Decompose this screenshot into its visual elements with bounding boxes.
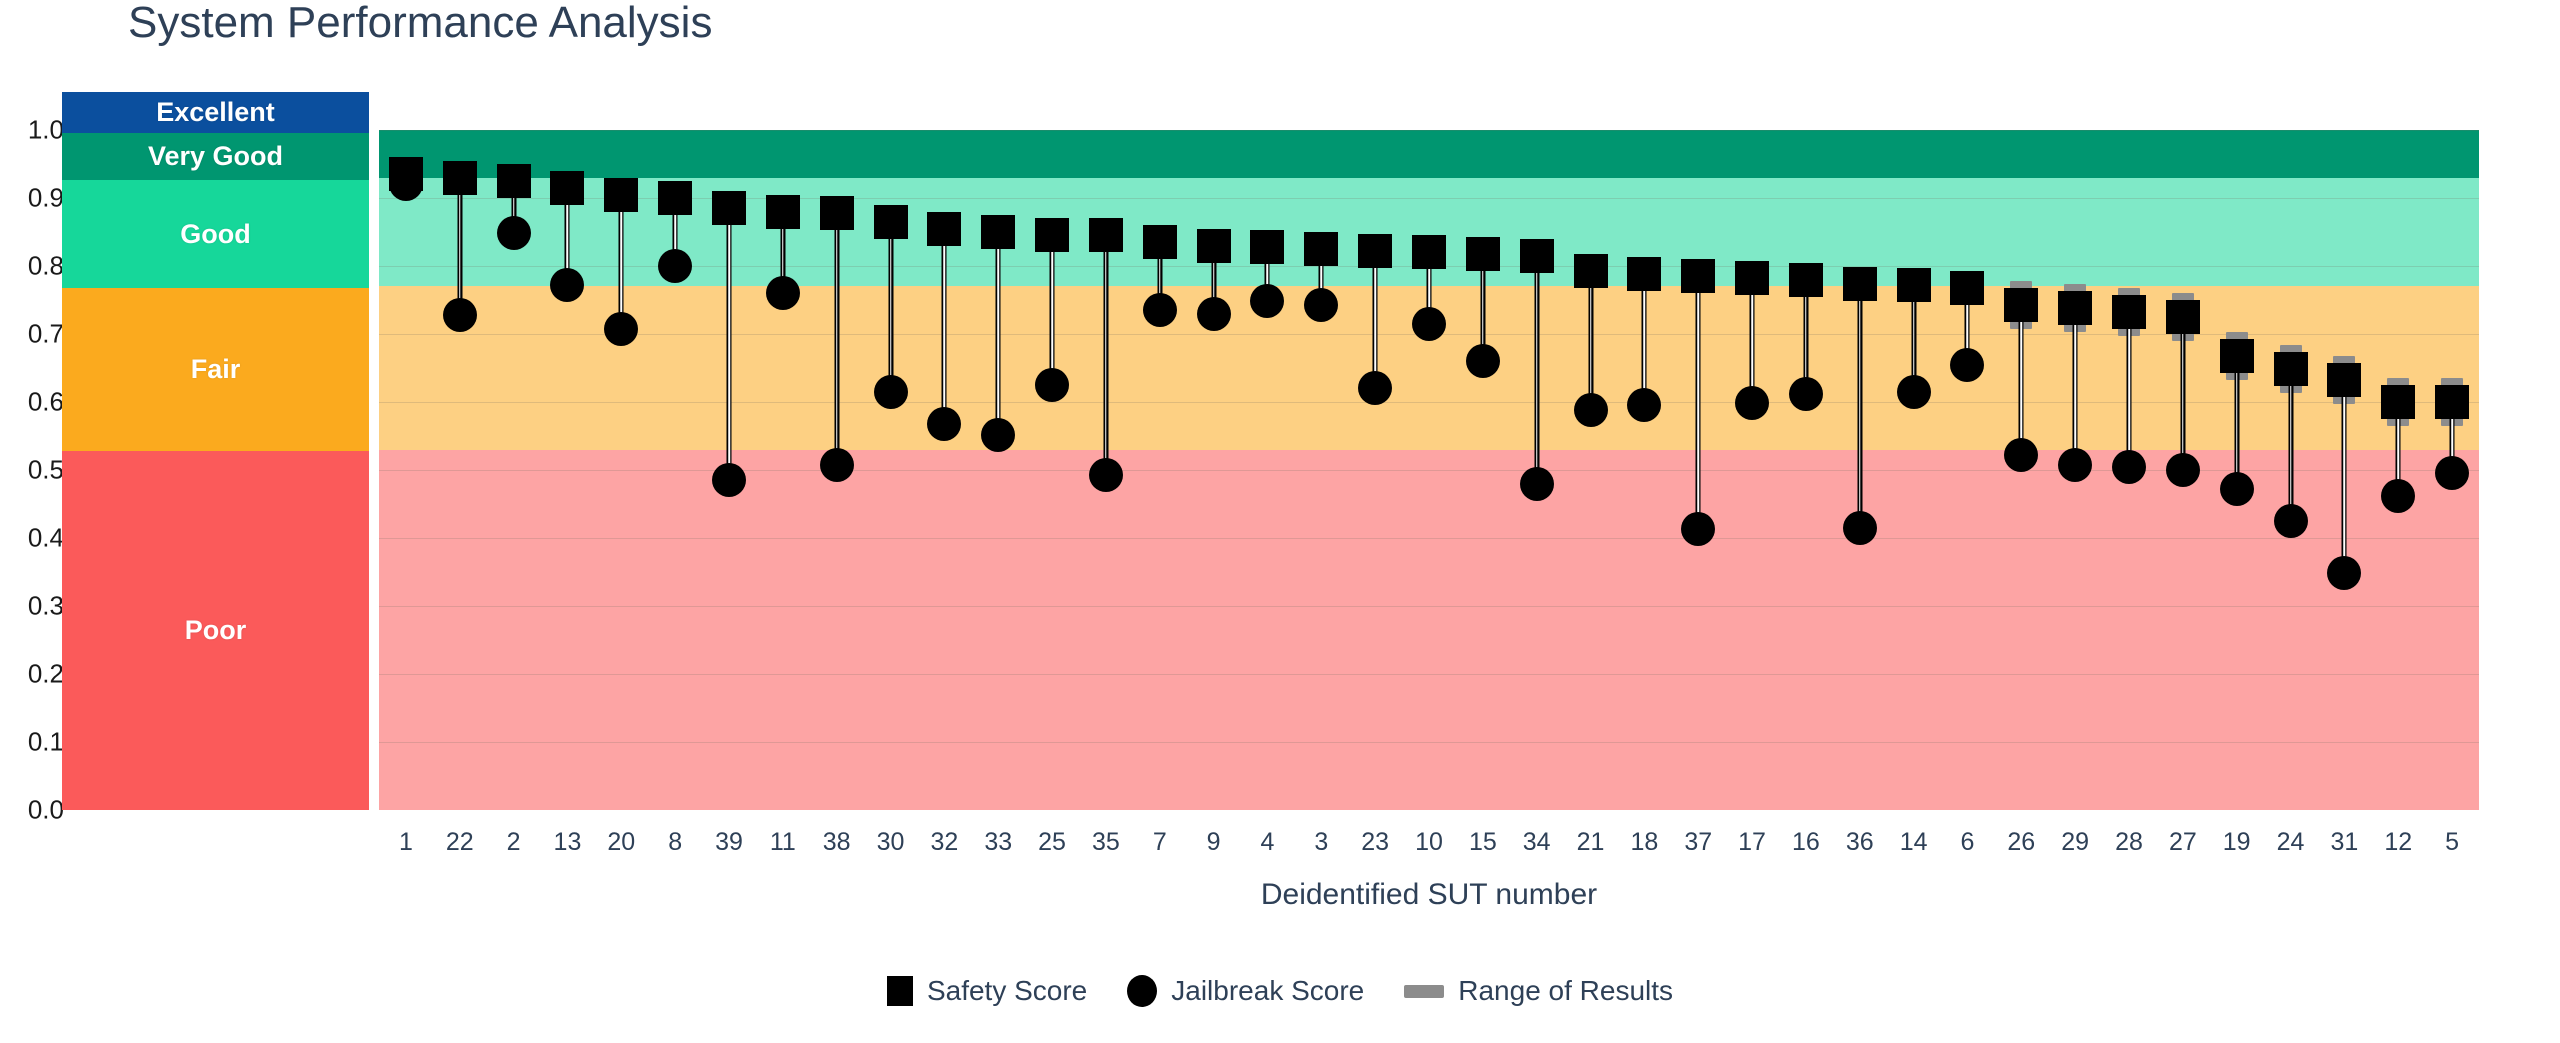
x-axis-tick: 22 <box>446 828 474 857</box>
connector-stem-highlight <box>1751 286 1753 396</box>
connector-stem-highlight <box>1805 288 1807 386</box>
x-axis-tick: 4 <box>1261 828 1275 857</box>
page-title: System Performance Analysis <box>128 0 712 48</box>
rating-band-label: Very Good <box>148 141 283 172</box>
rating-band-label: Good <box>180 219 250 250</box>
rating-legend-panel: ExcellentVery GoodGoodFairPoor <box>62 92 369 810</box>
y-axis-tick: 0.8 <box>0 251 64 282</box>
y-axis-tick: 0.7 <box>0 319 64 350</box>
jailbreak-score-marker <box>443 298 477 332</box>
safety-score-marker <box>981 215 1015 249</box>
safety-score-marker <box>443 161 477 195</box>
x-axis-tick: 8 <box>668 828 682 857</box>
safety-score-marker <box>1250 230 1284 264</box>
jailbreak-score-marker <box>712 463 746 497</box>
jailbreak-score-marker <box>1735 386 1769 420</box>
jailbreak-score-marker <box>927 407 961 441</box>
x-axis-tick: 35 <box>1092 828 1120 857</box>
y-axis-tick: 0.3 <box>0 591 64 622</box>
connector-stem-highlight <box>459 186 461 307</box>
y-axis-tick: 0.5 <box>0 455 64 486</box>
safety-score-marker <box>1197 229 1231 263</box>
jailbreak-score-marker <box>1574 393 1608 427</box>
rating-band-label: Excellent <box>156 97 275 128</box>
jailbreak-score-marker <box>766 276 800 310</box>
safety-score-marker <box>2381 385 2415 419</box>
connector-stem-highlight <box>2182 325 2184 462</box>
jailbreak-score-marker <box>1843 511 1877 545</box>
rating-band-good: Good <box>62 180 369 288</box>
safety-score-marker <box>1412 235 1446 269</box>
safety-score-marker <box>1466 237 1500 271</box>
plot-area <box>379 130 2479 810</box>
jailbreak-score-marker <box>2112 450 2146 484</box>
jailbreak-score-marker <box>604 312 638 346</box>
safety-score-marker <box>1304 232 1338 266</box>
x-axis-tick: 33 <box>984 828 1012 857</box>
x-axis-tick: 30 <box>877 828 905 857</box>
connector-stem-highlight <box>997 240 999 427</box>
safety-score-marker <box>1950 271 1984 305</box>
safety-score-marker <box>1520 239 1554 273</box>
rating-band-excellent: Excellent <box>62 92 369 133</box>
safety-score-marker <box>658 181 692 215</box>
x-axis-tick: 32 <box>930 828 958 857</box>
connector-stem-highlight <box>2290 377 2292 513</box>
rating-band-fair: Fair <box>62 288 369 451</box>
safety-score-marker <box>1574 254 1608 288</box>
connector-stem-highlight <box>1644 282 1646 397</box>
safety-score-marker <box>1089 218 1123 252</box>
safety-score-marker <box>2220 339 2254 373</box>
x-axis-tick: 16 <box>1792 828 1820 857</box>
x-axis-title: Deidentified SUT number <box>379 878 2479 912</box>
y-axis-tick: 0.2 <box>0 659 64 690</box>
connector-stem-highlight <box>728 216 730 472</box>
jailbreak-score-marker <box>1950 348 1984 382</box>
connector-stem-highlight <box>944 237 946 416</box>
x-axis-tick: 7 <box>1153 828 1167 857</box>
safety-score-marker <box>604 178 638 212</box>
safety-score-marker <box>2058 291 2092 325</box>
x-axis-tick: 37 <box>1684 828 1712 857</box>
safety-score-marker <box>1358 234 1392 268</box>
jailbreak-score-marker <box>2327 556 2361 590</box>
jailbreak-score-marker <box>1466 344 1500 378</box>
x-axis-tick: 21 <box>1577 828 1605 857</box>
jailbreak-score-marker <box>1681 512 1715 546</box>
connector-stem-highlight <box>1590 279 1592 402</box>
jailbreak-score-marker <box>1789 377 1823 411</box>
jailbreak-score-marker <box>1897 375 1931 409</box>
x-axis-tick: 28 <box>2115 828 2143 857</box>
jailbreak-score-marker <box>820 448 854 482</box>
jailbreak-score-marker <box>658 249 692 283</box>
x-axis-tick: 38 <box>823 828 851 857</box>
circle-marker <box>1127 975 1157 1007</box>
safety-score-marker <box>2435 385 2469 419</box>
connector-stem-highlight <box>890 230 892 384</box>
rating-band-very-good: Very Good <box>62 133 369 180</box>
chart-root: System Performance Analysis 0.00.10.20.3… <box>0 0 2560 1043</box>
connector-stem-highlight <box>567 196 569 277</box>
x-axis-tick: 20 <box>607 828 635 857</box>
legend-item[interactable]: Range of Results <box>1404 975 1673 1007</box>
rating-band-label: Fair <box>191 354 241 385</box>
jailbreak-score-marker <box>1627 388 1661 422</box>
connector-stem-highlight <box>621 203 623 321</box>
connector-stem-highlight <box>1913 293 1915 384</box>
connector-stem-highlight <box>1374 259 1376 380</box>
jailbreak-score-marker <box>2166 453 2200 487</box>
safety-score-marker <box>766 195 800 229</box>
x-axis-tick: 5 <box>2445 828 2459 857</box>
markers-layer <box>379 130 2479 810</box>
x-axis-tick: 36 <box>1846 828 1874 857</box>
jailbreak-score-marker <box>1520 467 1554 501</box>
connector-stem-highlight <box>2344 388 2346 565</box>
jailbreak-score-marker <box>550 268 584 302</box>
rating-band-label: Poor <box>185 615 247 646</box>
x-axis-tick: 14 <box>1900 828 1928 857</box>
x-axis-tick: 6 <box>1961 828 1975 857</box>
jailbreak-score-marker <box>2220 472 2254 506</box>
x-axis-tick: 25 <box>1038 828 1066 857</box>
x-axis-tick: 11 <box>770 828 796 857</box>
safety-score-marker <box>874 205 908 239</box>
x-axis-tick: 1 <box>399 828 413 857</box>
connector-stem-highlight <box>1536 264 1538 476</box>
y-axis: 0.00.10.20.30.40.50.60.70.80.91.0 <box>0 0 64 1043</box>
x-axis-tick: 13 <box>554 828 582 857</box>
jailbreak-score-marker <box>2004 438 2038 472</box>
jailbreak-score-marker <box>1358 371 1392 405</box>
x-axis-tick: 2 <box>507 828 521 857</box>
connector-stem-highlight <box>1105 243 1107 466</box>
jailbreak-score-marker <box>2435 456 2469 490</box>
safety-score-marker <box>2274 352 2308 386</box>
safety-score-marker <box>712 191 746 225</box>
safety-score-marker <box>2327 363 2361 397</box>
legend-item[interactable]: Jailbreak Score <box>1127 975 1364 1007</box>
safety-score-marker <box>2004 288 2038 322</box>
x-axis-tick: 23 <box>1361 828 1389 857</box>
safety-score-marker <box>1035 218 1069 252</box>
jailbreak-score-marker <box>874 375 908 409</box>
y-axis-tick: 0.4 <box>0 523 64 554</box>
safety-score-marker <box>1843 267 1877 301</box>
x-axis-tick: 39 <box>715 828 743 857</box>
y-axis-tick: 0.1 <box>0 727 64 758</box>
jailbreak-score-marker <box>1089 458 1123 492</box>
range-bar-marker <box>1404 985 1444 998</box>
x-axis-tick: 19 <box>2223 828 2251 857</box>
connector-stem-highlight <box>1482 262 1484 353</box>
jailbreak-score-marker <box>497 216 531 250</box>
jailbreak-score-marker <box>2058 448 2092 482</box>
x-axis-tick: 18 <box>1630 828 1658 857</box>
x-axis-tick: 12 <box>2384 828 2412 857</box>
rating-band-poor: Poor <box>62 451 369 810</box>
safety-score-marker <box>389 157 423 191</box>
connector-stem-highlight <box>2021 313 2023 447</box>
legend-label: Jailbreak Score <box>1171 975 1364 1007</box>
x-axis-tick: 9 <box>1207 828 1221 857</box>
legend-item[interactable]: Safety Score <box>887 975 1087 1007</box>
safety-score-marker <box>1143 225 1177 259</box>
x-axis-tick: 17 <box>1738 828 1766 857</box>
safety-score-marker <box>497 164 531 198</box>
safety-score-marker <box>2166 300 2200 334</box>
x-axis-tick: 10 <box>1415 828 1443 857</box>
jailbreak-score-marker <box>1304 288 1338 322</box>
x-axis-tick: 15 <box>1469 828 1497 857</box>
connector-stem-highlight <box>1697 284 1699 521</box>
legend-label: Safety Score <box>927 975 1087 1007</box>
connector-stem-highlight <box>2074 316 2076 456</box>
x-axis-tick: 31 <box>2330 828 2358 857</box>
safety-score-marker <box>820 196 854 230</box>
x-axis-tick: 27 <box>2169 828 2197 857</box>
safety-score-marker <box>2112 295 2146 329</box>
connector-stem-highlight <box>2397 410 2399 488</box>
safety-score-marker <box>550 171 584 205</box>
x-axis-tick: 24 <box>2277 828 2305 857</box>
connector-stem-highlight <box>836 221 838 457</box>
jailbreak-score-marker <box>1197 297 1231 331</box>
legend-label: Range of Results <box>1458 975 1673 1007</box>
jailbreak-score-marker <box>981 418 1015 452</box>
connector-stem-highlight <box>1859 292 1861 519</box>
x-axis-tick: 34 <box>1523 828 1551 857</box>
safety-score-marker <box>1681 259 1715 293</box>
safety-score-marker <box>1789 263 1823 297</box>
y-axis-tick: 0.9 <box>0 183 64 214</box>
jailbreak-score-marker <box>1250 284 1284 318</box>
connector-stem-highlight <box>2236 364 2238 481</box>
x-axis-tick: 26 <box>2007 828 2035 857</box>
jailbreak-score-marker <box>1143 293 1177 327</box>
connector-stem-highlight <box>1051 243 1053 377</box>
safety-score-marker <box>1897 268 1931 302</box>
chart-legend: Safety ScoreJailbreak ScoreRange of Resu… <box>0 975 2560 1007</box>
safety-score-marker <box>1627 257 1661 291</box>
jailbreak-score-marker <box>2381 479 2415 513</box>
y-axis-tick: 1.0 <box>0 115 64 146</box>
y-axis-tick: 0.6 <box>0 387 64 418</box>
jailbreak-score-marker <box>1035 368 1069 402</box>
y-axis-tick: 0.0 <box>0 795 64 826</box>
x-axis-tick: 3 <box>1314 828 1328 857</box>
jailbreak-score-marker <box>1412 307 1446 341</box>
x-axis-tick: 29 <box>2061 828 2089 857</box>
connector-stem-highlight <box>2128 320 2130 458</box>
safety-score-marker <box>927 212 961 246</box>
square-marker <box>887 976 913 1006</box>
safety-score-marker <box>1735 261 1769 295</box>
jailbreak-score-marker <box>2274 504 2308 538</box>
